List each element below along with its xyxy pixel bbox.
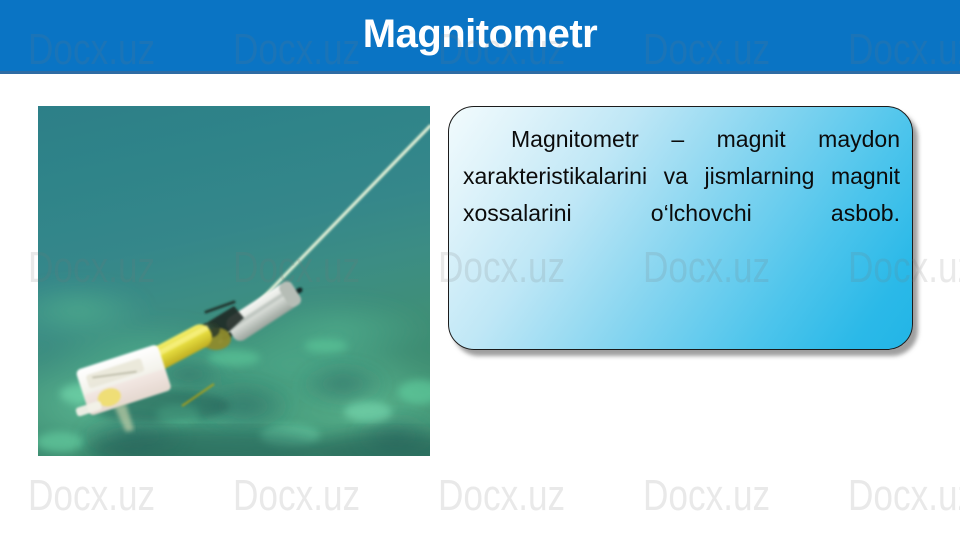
definition-text: Magnitometr – magnit maydon xarakteristi… — [463, 121, 900, 269]
magnetometer-photo — [38, 106, 430, 456]
magnetometer-photo-graphic — [38, 106, 430, 456]
watermark-text: Docx.uz — [438, 466, 602, 526]
watermark-row: Docx.uzDocx.uzDocx.uzDocx.uzDocx.uz — [28, 466, 960, 526]
slide-canvas: Magnitometr — [0, 0, 960, 540]
page-title: Magnitometr — [0, 6, 960, 62]
watermark-text: Docx.uz — [233, 466, 397, 526]
watermark-text: Docx.uz — [848, 466, 960, 526]
definition-callout-box: Magnitometr – magnit maydon xarakteristi… — [448, 106, 913, 350]
watermark-text: Docx.uz — [643, 466, 807, 526]
watermark-text: Docx.uz — [28, 466, 192, 526]
